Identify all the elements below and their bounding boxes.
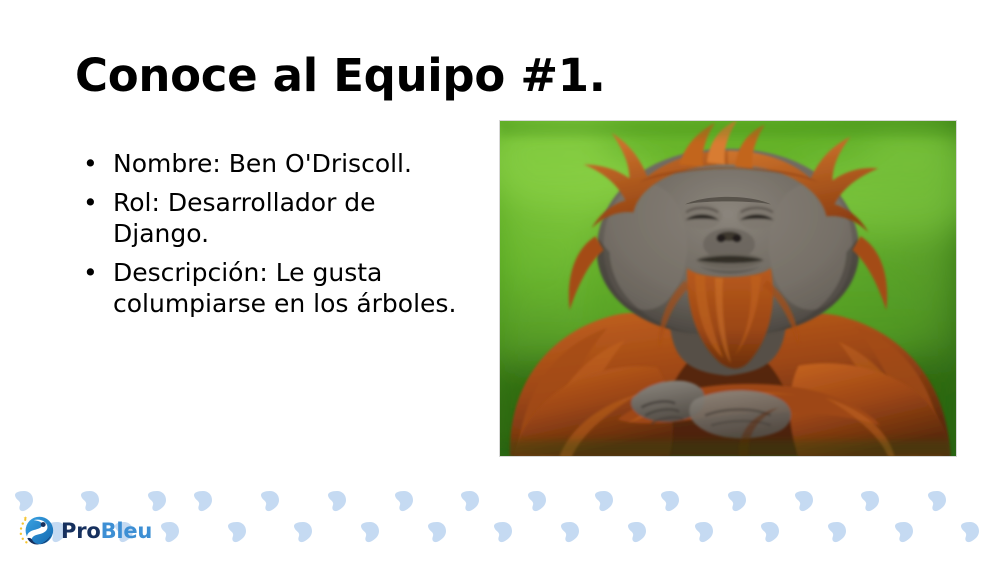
bullet-list: • Nombre: Ben O'Driscoll. • Rol: Desarro… [76,148,468,319]
list-item: • Rol: Desarrollador de Django. [76,187,468,249]
orangutan-illustration [500,121,956,456]
list-item: • Nombre: Ben O'Driscoll. [76,148,468,179]
list-item-label: Descripción: Le gusta columpiarse en los… [113,257,468,319]
orangutan-photo [499,120,957,457]
list-item-label: Rol: Desarrollador de Django. [113,187,468,249]
probleu-globe-icon [18,512,56,550]
brand-word-pro: Pro [61,519,101,543]
brand-logo: ProBleu [18,511,150,551]
droplet-row-upper [15,491,946,511]
page-title: Conoce al Equipo #1. [75,52,875,100]
list-item-label: Nombre: Ben O'Driscoll. [113,148,468,179]
slide-canvas: Conoce al Equipo #1. • Nombre: Ben O'Dri… [0,0,1000,563]
brand-word-bleu: Bleu [101,519,153,543]
droplet-row-lower [48,522,979,542]
bullet-marker-icon: • [83,187,95,218]
bullet-marker-icon: • [83,257,95,288]
bullet-marker-icon: • [83,148,95,179]
brand-wordmark: ProBleu [61,519,152,543]
list-item: • Descripción: Le gusta columpiarse en l… [76,257,468,319]
